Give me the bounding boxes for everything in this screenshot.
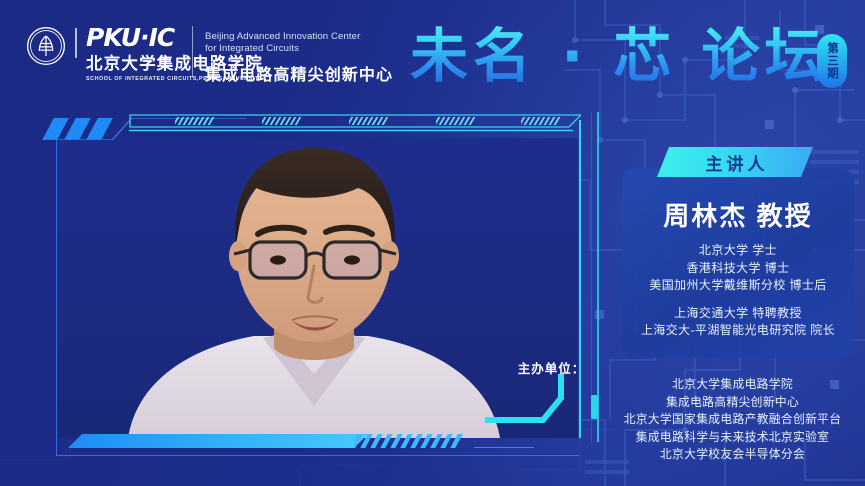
decor-bottom-bar xyxy=(68,434,528,450)
host-organizations: 北京大学集成电路学院 集成电路高精尖创新中心 北京大学国家集成电路产教融合创新平… xyxy=(600,376,865,464)
header-divider xyxy=(192,26,193,78)
panel-separator-blue xyxy=(591,112,592,442)
video-frame xyxy=(40,118,595,458)
pku-seal-icon xyxy=(26,26,66,66)
credential-line: 香港科技大学 博士 xyxy=(628,260,848,278)
event-title-area: 未名 · 芯 论坛 第三期 xyxy=(405,12,865,100)
issue-number-label: 第三期 xyxy=(826,42,838,80)
event-title: 未名 · 芯 论坛 xyxy=(410,18,828,94)
position-line: 上海交大-平湖智能光电研究院 院长 xyxy=(628,322,848,340)
spacer xyxy=(628,295,848,305)
decor-corner-bracket xyxy=(485,374,605,434)
issue-number-badge: 第三期 xyxy=(817,34,847,88)
speaker-name: 周林杰 教授 xyxy=(622,196,854,233)
host-section-title: 主办单位： xyxy=(0,358,865,377)
host-line: 集成电路科学与未来技术北京实验室 xyxy=(600,429,865,447)
host-line: 北京大学国家集成电路产教融合创新平台 xyxy=(600,411,865,429)
decor-top-bar xyxy=(129,114,581,133)
panel-separator-cyan xyxy=(597,112,599,442)
speaker-badge-label: 主讲人 xyxy=(702,150,769,175)
innovation-center-block: Beijing Advanced Innovation Center for I… xyxy=(205,31,393,85)
host-line: 北京大学校友会半导体分会 xyxy=(600,446,865,464)
credential-line: 北京大学 学士 xyxy=(628,242,848,260)
center-name-en-line1: Beijing Advanced Innovation Center xyxy=(205,31,393,43)
position-line: 上海交通大学 特聘教授 xyxy=(628,305,848,323)
center-name-cn: 集成电路高精尖创新中心 xyxy=(205,61,393,85)
presentation-slide: PKU·IC 北京大学集成电路学院 SCHOOL OF INTEGRATED C… xyxy=(0,0,865,486)
host-line: 北京大学集成电路学院 xyxy=(600,376,865,394)
panel-accent-tab xyxy=(591,395,598,419)
speaker-credentials: 北京大学 学士 香港科技大学 博士 美国加州大学戴维斯分校 博士后 上海交通大学… xyxy=(628,242,848,340)
slide-header: PKU·IC 北京大学集成电路学院 SCHOOL OF INTEGRATED C… xyxy=(0,0,865,104)
speaker-badge: 主讲人 xyxy=(657,147,813,177)
center-name-en-line2: for Integrated Circuits xyxy=(205,43,393,55)
speaker-info-card: 周林杰 教授 北京大学 学士 香港科技大学 博士 美国加州大学戴维斯分校 博士后… xyxy=(622,168,854,358)
credential-line: 美国加州大学戴维斯分校 博士后 xyxy=(628,277,848,295)
logo-divider xyxy=(75,28,77,58)
host-line: 集成电路高精尖创新中心 xyxy=(600,394,865,412)
host-section-label: 主办单位： xyxy=(518,358,586,377)
